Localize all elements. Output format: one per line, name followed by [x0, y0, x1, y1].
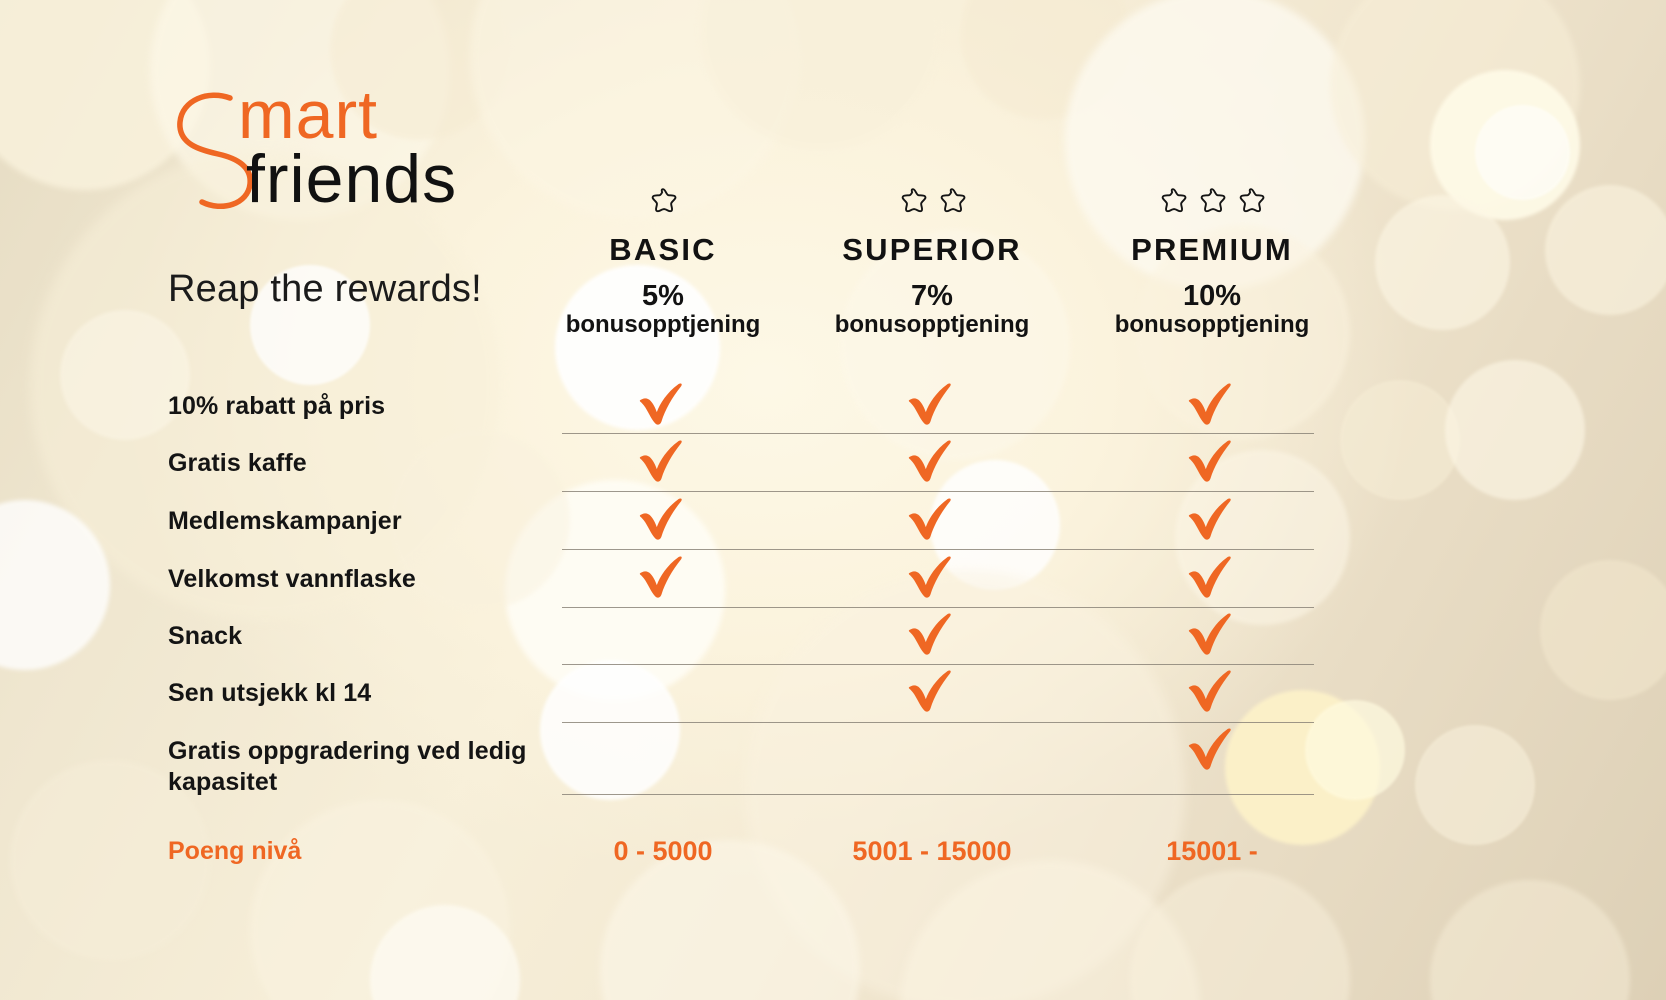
- orange-check-icon: [1187, 382, 1237, 428]
- orange-check-icon: [907, 382, 957, 428]
- orange-check-icon: [1187, 612, 1237, 658]
- orange-check-icon: [907, 612, 957, 658]
- orange-check-icon: [1187, 555, 1237, 601]
- feature-label: Medlemskampanjer: [168, 506, 548, 537]
- orange-check-icon: [907, 439, 957, 485]
- feature-label: Snack: [168, 621, 548, 652]
- feature-check-premium: [1187, 497, 1237, 548]
- row-divider: [562, 607, 1314, 608]
- orange-check-icon: [907, 669, 957, 715]
- row-divider: [562, 722, 1314, 723]
- feature-check-premium: [1187, 727, 1237, 778]
- orange-check-icon: [638, 382, 688, 428]
- feature-check-superior: [907, 555, 957, 606]
- feature-check-superior: [907, 612, 957, 663]
- row-divider: [562, 549, 1314, 550]
- feature-check-premium: [1187, 439, 1237, 490]
- orange-check-icon: [638, 497, 688, 543]
- feature-check-premium: [1187, 669, 1237, 720]
- points-range-basic: 0 - 5000: [613, 836, 712, 867]
- feature-check-premium: [1187, 612, 1237, 663]
- orange-check-icon: [907, 497, 957, 543]
- feature-label: Gratis kaffe: [168, 448, 548, 479]
- orange-check-icon: [1187, 497, 1237, 543]
- orange-check-icon: [1187, 439, 1237, 485]
- feature-label: 10% rabatt på pris: [168, 391, 548, 422]
- feature-check-superior: [907, 669, 957, 720]
- row-divider: [562, 664, 1314, 665]
- feature-check-basic: [638, 497, 688, 548]
- feature-check-basic: [638, 439, 688, 490]
- feature-check-premium: [1187, 555, 1237, 606]
- feature-label: Gratis oppgradering ved ledig kapasitet: [168, 736, 548, 797]
- orange-check-icon: [638, 439, 688, 485]
- orange-check-icon: [1187, 669, 1237, 715]
- points-range-premium: 15001 -: [1166, 836, 1258, 867]
- feature-label: Velkomst vannflaske: [168, 564, 548, 595]
- orange-check-icon: [1187, 727, 1237, 773]
- feature-check-premium: [1187, 382, 1237, 433]
- row-divider: [562, 491, 1314, 492]
- feature-check-basic: [638, 555, 688, 606]
- feature-check-superior: [907, 382, 957, 433]
- feature-check-basic: [638, 382, 688, 433]
- row-divider: [562, 794, 1314, 795]
- points-level-label: Poeng nivå: [168, 837, 301, 866]
- feature-check-superior: [907, 497, 957, 548]
- feature-label: Sen utsjekk kl 14: [168, 678, 548, 709]
- feature-check-superior: [907, 439, 957, 490]
- row-divider: [562, 433, 1314, 434]
- orange-check-icon: [907, 555, 957, 601]
- reward-tiers-poster: mart friends Smart friends Reap the rewa…: [0, 0, 1666, 1000]
- orange-check-icon: [638, 555, 688, 601]
- points-range-superior: 5001 - 15000: [852, 836, 1011, 867]
